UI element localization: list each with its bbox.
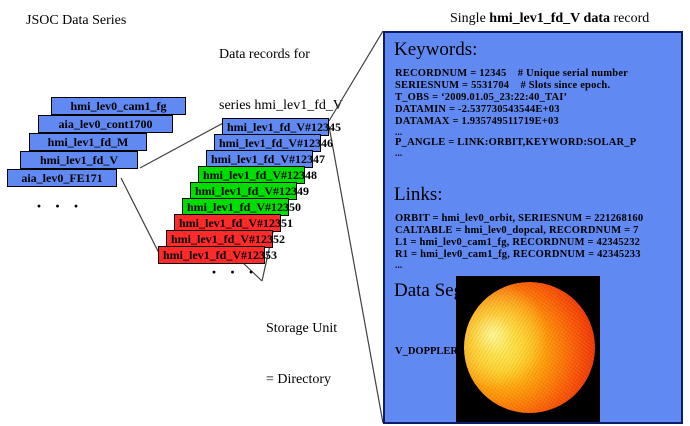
keyword-datamax: DATAMAX = 1.935749511719E+03 [395,116,636,128]
links-list: ORBIT = hmi_lev0_orbit, SERIESNUM = 2212… [395,213,643,270]
keyword-seriesnum: SERIESNUM = 5531704 # Slots since epoch. [395,80,636,92]
heading-single-prefix: Single [450,11,489,26]
keyword-t-obs: T_OBS = ‘2009.01.05_23:22:40_TAI’ [395,92,636,104]
heading-data-records-line2: series hmi_lev1_fd_V [219,97,343,114]
link-r1: R1 = hmi_lev0_cam1_fg, RECORDNUM = 42345… [395,249,643,261]
heading-jsoc-data-series: JSOC Data Series [26,12,126,29]
links-section-title: Links: [394,184,443,206]
solar-limb-darkening [464,282,595,413]
link-caltable: CALTABLE = hmi_lev0_dopcal, RECORDNUM = … [395,225,643,237]
heading-data-records-line1: Data records for [219,46,343,63]
series-box-hmi-lev1-fd-v[interactable]: hmi_lev1_fd_V [20,151,138,169]
storage-unit-caption-line2: = Directory [266,371,337,388]
record-stack-ellipsis: · · · [211,262,258,283]
heading-single-bold: hmi_lev1_fd_V data [489,11,610,26]
storage-unit-caption-line1: Storage Unit [266,320,337,337]
series-box-aia-lev0-fe171[interactable]: aia_lev0_FE171 [7,169,117,187]
keywords-ellipsis-2: ... [395,149,636,158]
series-box-hmi-lev1-fd-m[interactable]: hmi_lev1_fd_M [29,133,147,151]
keywords-list: RECORDNUM = 12345 # Unique serial number… [395,68,636,158]
keywords-ellipsis-1: ... [395,128,636,137]
series-box-aia-lev0-cont1700[interactable]: aia_lev0_cont1700 [38,115,173,133]
links-ellipsis: ... [395,261,643,270]
single-record-detail-panel: Keywords: RECORDNUM = 12345 # Unique ser… [383,31,683,424]
keyword-recordnum: RECORDNUM = 12345 # Unique serial number [395,68,636,80]
link-l1: L1 = hmi_lev0_cam1_fg, RECORDNUM = 42345… [395,237,643,249]
link-orbit: ORBIT = hmi_lev0_orbit, SERIESNUM = 2212… [395,213,643,225]
keyword-p-angle: P_ANGLE = LINK:ORBIT,KEYWORD:SOLAR_P [395,137,636,149]
series-box-hmi-lev0-cam1-fg[interactable]: hmi_lev0_cam1_fg [51,97,186,115]
keywords-section-title: Keywords: [394,39,477,61]
heading-single-suffix: record [610,11,649,26]
solar-disk [464,282,595,413]
diagram-canvas: JSOC Data Series Data records for series… [0,0,690,426]
heading-single-record: Single hmi_lev1_fd_V data record [450,10,649,27]
storage-unit-caption: Storage Unit = Directory [266,286,337,422]
series-stack-ellipsis: · · · [36,196,83,217]
solar-doppler-disk-image [456,276,600,422]
keyword-datamin: DATAMIN = -2.537730543544E+03 [395,104,636,116]
